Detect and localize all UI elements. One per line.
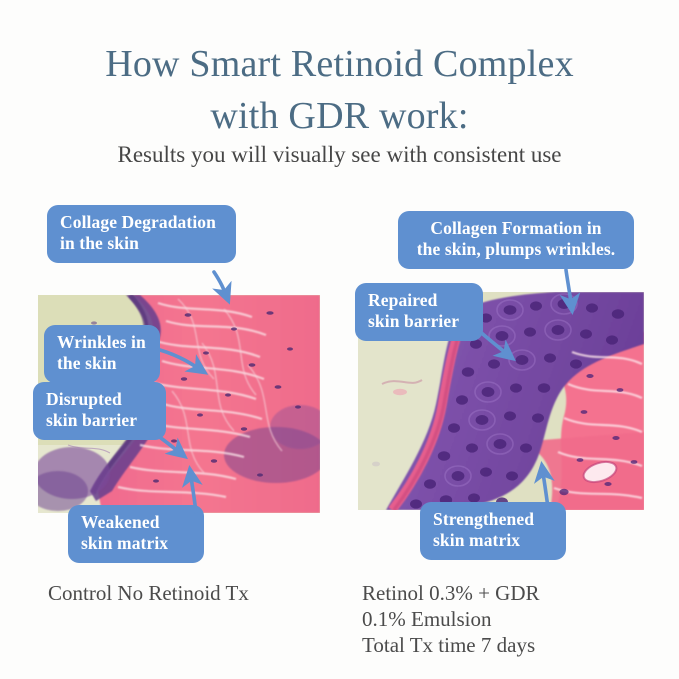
infographic-canvas: How Smart Retinoid Complex with GDR work… (0, 0, 679, 679)
callout-strengthened-skin-matrix[interactable]: Strengthened skin matrix (420, 502, 566, 560)
callout-repaired-skin-barrier[interactable]: Repaired skin barrier (355, 283, 483, 341)
page-title-line-2: with GDR work: (0, 94, 679, 138)
callout-wrinkles-in-skin[interactable]: Wrinkles in the skin (44, 325, 160, 383)
callout-disrupted-skin-barrier[interactable]: Disrupted skin barrier (33, 382, 166, 440)
callout-weakened-skin-matrix[interactable]: Weakened skin matrix (68, 505, 204, 563)
callout-collage-degradation[interactable]: Collage Degradation in the skin (47, 205, 236, 263)
page-title-line-1: How Smart Retinoid Complex (0, 42, 679, 86)
caption-treated: Retinol 0.3% + GDR 0.1% Emulsion Total T… (362, 580, 540, 658)
callout-collagen-formation[interactable]: Collagen Formation in the skin, plumps w… (398, 211, 634, 269)
caption-control: Control No Retinoid Tx (48, 580, 249, 606)
page-subtitle: Results you will visually see with consi… (0, 141, 679, 169)
